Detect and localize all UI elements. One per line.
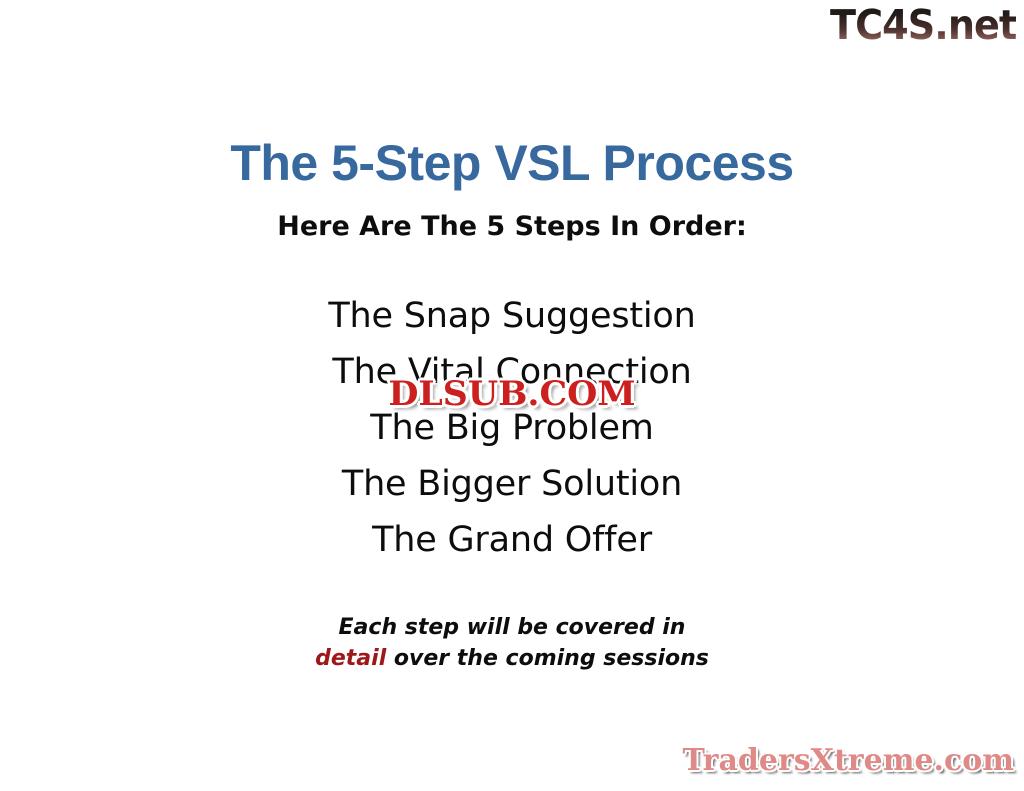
slide-canvas: TC4S.net The 5-Step VSL Process Here Are… [0,0,1024,791]
list-item: The Grand Offer [0,512,1024,568]
footnote-line-2-rest: over the coming sessions [386,646,709,671]
tradersxtreme-watermark: TradersXtreme.com [683,743,1014,779]
footnote-line-1: Each step will be covered in [0,612,1024,643]
subtitle: Here Are The 5 Steps In Order: [0,210,1024,244]
list-item: The Snap Suggestion [0,288,1024,344]
list-item: The Bigger Solution [0,456,1024,512]
dlsub-watermark: DLSUB.COM [388,375,635,413]
steps-list: The Snap Suggestion The Vital Connection… [0,288,1024,568]
footnote-line-2: detail over the coming sessions [0,643,1024,674]
footnote: Each step will be covered in detail over… [0,612,1024,674]
page-title: The 5-Step VSL Process [0,134,1024,192]
footnote-accent-word: detail [315,646,386,671]
tc4s-logo: TC4S.net [830,2,1016,48]
